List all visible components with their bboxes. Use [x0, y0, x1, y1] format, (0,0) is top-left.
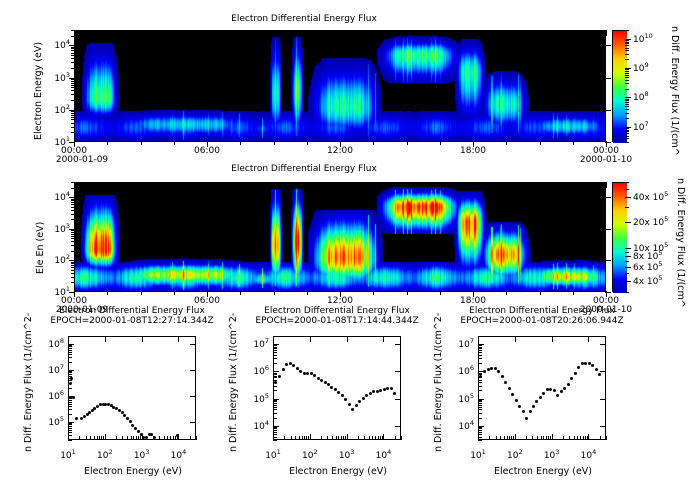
spec-ytick-minor [71, 238, 75, 239]
spec-xtick-minor [440, 141, 441, 145]
spec-ytick-minor [71, 273, 75, 274]
spectrum-ytick-minor [478, 363, 482, 364]
spectrum-ytick-text-exponent: 6 [60, 389, 64, 397]
spectrogram-top-frame [74, 30, 606, 142]
spectrum-xtick-minor [336, 436, 337, 440]
spectrum-ylabel-group: n Diff. Energy Flux (1/(cm^2- [217, 314, 231, 454]
spectrum-xtick-minor [79, 436, 80, 440]
spectrum-xtick-minor [378, 436, 379, 440]
colorbar-tick-minor [625, 48, 629, 49]
spectrogram-mid-title: Electron Differential Energy Flux [0, 164, 608, 174]
spectrum-xtick-minor [94, 436, 95, 440]
colorbar-tick-text: 1010 [633, 35, 653, 45]
colorbar-tick-minor [625, 59, 629, 60]
spectrum-data-point [70, 377, 73, 380]
spectrum-xtick-minor [332, 436, 333, 440]
spec-xtick-label: 12:00 [318, 146, 362, 156]
spectrum-ytick-text: 105 [458, 395, 474, 405]
spectrum-xtick-top [310, 336, 311, 342]
spectrum-xtick-minor [338, 436, 339, 440]
spectrum-xtick-minor [541, 436, 542, 440]
spectrum-ytick-text-exponent: 6 [265, 364, 269, 372]
spectrum-ylabel: n Diff. Energy Flux (1/(cm^2- [433, 313, 444, 452]
colorbar-tick-minor [625, 292, 629, 293]
spectrum-xtick-minor [577, 436, 578, 440]
spectrum-xtick-text: 101 [60, 451, 76, 461]
spec-ytick-minor [71, 207, 75, 208]
spec-xtick-minor [240, 291, 241, 295]
colorbar-tick-minor [625, 273, 629, 274]
spectrum-data-point [341, 394, 344, 397]
spectrum-xtick-top [515, 336, 516, 342]
spectrum-ytick-text: 105 [48, 418, 64, 428]
spectrum-xtick-minor [500, 436, 501, 440]
spectrum-ytick-minor [68, 424, 72, 425]
colorbar-tick-text: 4x 105 [633, 277, 663, 287]
colorbar-tick-minor [625, 99, 629, 100]
spectrum-ytick-text-exponent: 7 [265, 337, 269, 345]
spectrum-ytick-text-exponent: 7 [470, 337, 474, 345]
spectrum-ylabel: n Diff. Energy Flux (1/(cm^2- [228, 313, 239, 452]
spectrum-xtick-minor [308, 436, 309, 440]
spectrum-ytick-minor [68, 348, 72, 349]
colorbar-tick-text: 108 [633, 93, 649, 103]
spectrum-data-point [529, 410, 532, 413]
spectrum-ytick-minor [68, 423, 72, 424]
spectrum-xtick-minor [173, 436, 174, 440]
spec-ytick-minor [71, 119, 75, 120]
colorbar-tick-minor [625, 45, 629, 46]
spec-ytick-minor [71, 282, 75, 283]
colorbar-tick-minor [625, 138, 629, 139]
colorbar-tick-minor [625, 80, 629, 81]
spec-ytick-minor [71, 265, 75, 266]
spectrum-ytick-minor [68, 409, 72, 410]
spectrum-frame [273, 336, 401, 440]
spec-xtick-minor [141, 291, 142, 295]
spectrum-ytick-minor [478, 401, 482, 402]
spectrum-xtick [68, 434, 69, 440]
spectrum-ytick-minor [478, 348, 482, 349]
spectrum-xtick-minor [546, 436, 547, 440]
spectrum-data-point [324, 381, 327, 384]
spec-xtick-minor-top [440, 182, 441, 186]
spec-ytick-text: 103 [54, 225, 70, 235]
spectrum-xtick-minor [507, 436, 508, 440]
spectrum-xtick-top [347, 336, 348, 342]
spec-xtick-label: 06:00 [185, 146, 229, 156]
spec-ytick-minor [71, 53, 75, 54]
spectrum-xtick [347, 434, 348, 440]
spectrum-xtick-minor [295, 436, 296, 440]
spectrum-xtick-minor [496, 436, 497, 440]
spectrum-xtick-text: 104 [171, 451, 187, 461]
spec-ytick-minor [71, 123, 75, 124]
spectrum-xtick-minor [321, 436, 322, 440]
spectrum-ytick-minor [68, 357, 72, 358]
spectrum-xtick-top [552, 336, 553, 342]
spectrum-ytick-minor [478, 345, 482, 346]
spectrum-ytick-minor [273, 413, 277, 414]
spectrum-ytick-text: 105 [253, 395, 269, 405]
spec-ytick-label: 104 [40, 38, 70, 51]
spectrum-xtick-text-exponent: 1 [482, 448, 486, 456]
spectrum-xtick-minor [116, 436, 117, 440]
spectrum-ytick-text: 107 [48, 366, 64, 376]
spectrum-xtick-minor [569, 436, 570, 440]
spec-ytick-label: 103 [40, 71, 70, 84]
spec-ytick-minor [71, 232, 75, 233]
spectrum-ytick-minor [68, 388, 72, 389]
spectrum-ylabel-group: n Diff. Energy Flux (1/(cm^2- [12, 314, 26, 454]
spectrum-ytick-right [395, 399, 401, 400]
colorbar-tick-minor [625, 261, 629, 262]
colorbar-tick-minor [625, 40, 629, 41]
spectrum-xtick-minor [167, 436, 168, 440]
spec-xtick-minor [540, 141, 541, 145]
spectrum-xtick-minor [97, 436, 98, 440]
spectrum-ytick-minor [478, 355, 482, 356]
spec-ytick-text-exponent: 3 [66, 71, 70, 79]
spectrum-xtick-text: 102 [507, 451, 523, 461]
spectrum-ytick-minor [478, 352, 482, 353]
spec-ytick-major-right [605, 197, 611, 198]
spec-xtick-minor [373, 291, 374, 295]
spec-ytick-minor [71, 132, 75, 133]
spectrum-xtick-label: 101 [257, 448, 289, 461]
spectrum-ytick-text: 107 [253, 340, 269, 350]
spec-xtick-minor-top [107, 182, 108, 186]
spec-ytick-minor [71, 100, 75, 101]
spectrum-ytick-minor [273, 386, 277, 387]
colorbar-tick-minor [625, 42, 629, 43]
spectrum-ytick-minor [478, 376, 482, 377]
spec-xtick-minor [473, 141, 474, 145]
spec-xtick-minor-top [407, 182, 408, 186]
spectrum-xlabel: Electron Energy (eV) [38, 466, 228, 477]
spectrum-ytick-right [395, 344, 401, 345]
colorbar-tick-minor [625, 102, 629, 103]
spectrogram-top-title: Electron Differential Energy Flux [0, 14, 608, 24]
spectrum-xtick-minor [164, 436, 165, 440]
spectrum-xtick-minor [548, 436, 549, 440]
spec-ytick-text-exponent: 1 [66, 285, 70, 293]
spectrum-ytick-minor [478, 413, 482, 414]
spectrum-xtick-minor [103, 436, 104, 440]
spectrum-ytick-minor [478, 403, 482, 404]
spec-xtick-minor [107, 291, 108, 295]
colorbar-mid-label: n Diff. Energy Flux (1/(cm^ [675, 178, 686, 308]
spectrum-ytick-right [190, 370, 196, 371]
spectrum-data-point [153, 436, 156, 439]
spectrum-ytick-text: 107 [458, 340, 474, 350]
spectrum-data-point [390, 387, 393, 390]
spectrum-ytick-minor [478, 347, 482, 348]
spectrum-ytick-minor [68, 372, 72, 373]
colorbar-tick [625, 248, 631, 249]
spectrum-ytick-label: 105 [239, 392, 269, 405]
spec-ytick-label: 103 [40, 222, 70, 235]
spec-xtick-minor-top [506, 30, 507, 34]
spec-xtick-minor [606, 291, 607, 295]
spectrum-ytick-text-exponent: 4 [265, 419, 269, 427]
colorbar-tick-label: 1010 [633, 32, 653, 45]
spectrum-xtick-minor [196, 436, 197, 440]
spec-ytick-minor [71, 47, 75, 48]
spectrum-data-point [598, 373, 601, 376]
colorbar-tick-label: 4x 105 [633, 274, 663, 287]
spectrum-ytick-minor [478, 380, 482, 381]
spectrum-xtick-minor [395, 436, 396, 440]
spectrum-data-point [348, 403, 351, 406]
spectrum-ytick-label: 107 [239, 337, 269, 350]
spectrum-xtick-label: 103 [536, 448, 568, 461]
colorbar-tick-minor [625, 130, 629, 131]
spectrum-ytick-minor [478, 405, 482, 406]
spectrum-xtick-text-exponent: 4 [182, 448, 186, 456]
spectrum-ytick-text-exponent: 5 [470, 392, 474, 400]
spec-xtick-minor [307, 291, 308, 295]
spectrum-ytick-minor [68, 414, 72, 415]
spec-ytick-text-exponent: 2 [66, 253, 70, 261]
spec-xtick-minor [473, 291, 474, 295]
spectrum-xtick-text: 101 [470, 451, 486, 461]
spectrum-xtick [515, 434, 516, 440]
spec-ytick-minor [71, 251, 75, 252]
spectrum-xtick-minor [127, 436, 128, 440]
spectrum-ytick-minor [68, 400, 72, 401]
spectrum-data-point [282, 368, 285, 371]
colorbar-tick-text-exponent: 7 [644, 120, 648, 128]
spec-ytick-minor [71, 277, 75, 278]
spectrum-ytick-right [190, 422, 196, 423]
spectrum-xtick-minor [136, 436, 137, 440]
spectrum-ytick-right [600, 371, 606, 372]
spec-xtick-minor [573, 141, 574, 145]
spectrum-xtick-minor [327, 436, 328, 440]
spec-ytick-minor [71, 236, 75, 237]
colorbar-tick-minor [625, 89, 629, 90]
colorbar-top [612, 30, 626, 142]
spectrum-ytick-minor [68, 350, 72, 351]
spectrum-subtitle: EPOCH=2000-01-08T20:26:06.944Z [418, 316, 666, 326]
spec-xtick-minor-top [373, 182, 374, 186]
spec-ytick-minor [71, 241, 75, 242]
spectrum-ytick-text-exponent: 5 [60, 415, 64, 423]
spectrum-xtick-top [273, 336, 274, 342]
spectrum-ytick-minor [273, 409, 277, 410]
spec-xtick-minor [606, 141, 607, 145]
spectrum-xtick-label: 101 [462, 448, 494, 461]
spectrum-xtick-text: 104 [581, 451, 597, 461]
spectrum-ytick-minor [68, 371, 72, 372]
spectrum-ytick-minor [273, 347, 277, 348]
spec-xtick-minor-top [540, 30, 541, 34]
spectrum-xtick-minor [101, 436, 102, 440]
spectrum-xtick-minor [537, 436, 538, 440]
spec-xtick-minor [174, 291, 175, 295]
spec-xtick-minor [74, 291, 75, 295]
spec-ytick-minor [71, 210, 75, 211]
spec-xtick-minor-top [307, 182, 308, 186]
spectrum-title: Electron Differential Energy Flux [418, 306, 666, 316]
spectrum-xtick-minor [401, 436, 402, 440]
colorbar-tick-minor [625, 133, 629, 134]
spectrum-ytick-minor [68, 362, 72, 363]
colorbar-tick-minor [625, 197, 629, 198]
spectrogram-top-ylabel: Electron Energy (eV) [33, 42, 44, 140]
spectrum-xtick-label: 104 [162, 448, 194, 461]
spectrum-xtick-minor [343, 436, 344, 440]
spectrum-xtick-minor [583, 436, 584, 440]
spec-ytick-text: 104 [54, 41, 70, 51]
spec-xtick-minor [174, 141, 175, 145]
colorbar-tick-minor [625, 267, 629, 268]
spec-ytick-minor [71, 55, 75, 56]
spectrum-xtick-minor [131, 436, 132, 440]
colorbar-tick-text: 40x 105 [633, 193, 668, 203]
spectrum-ytick-minor [273, 390, 277, 391]
spectrum-ytick-minor [68, 426, 72, 427]
spec-ytick-minor [71, 68, 75, 69]
spectrum-ytick-label: 106 [239, 364, 269, 377]
spec-ytick-text: 104 [54, 193, 70, 203]
spectrum-ytick-minor [478, 428, 482, 429]
spectrum-ytick-minor [478, 409, 482, 410]
spectrum-ylabel: n Diff. Energy Flux (1/(cm^2- [23, 313, 34, 452]
colorbar-tick-text-exponent: 5 [664, 241, 668, 249]
colorbar-tick-minor [625, 113, 629, 114]
spectrum-ytick-minor [68, 398, 72, 399]
spectrum-xtick-minor [543, 436, 544, 440]
spec-xtick-minor-top [573, 30, 574, 34]
spectrum-ytick-minor [68, 404, 72, 405]
colorbar-tick-text: 20x 105 [633, 218, 668, 228]
spec-ytick-minor [71, 58, 75, 59]
colorbar-tick-minor [625, 104, 629, 105]
spectrum-xtick-label: 102 [294, 448, 326, 461]
spectrum-data-point [487, 368, 490, 371]
spectrum-ytick-label: 106 [34, 389, 64, 402]
spec-ytick-minor [71, 199, 75, 200]
spectrum-xtick-minor [138, 436, 139, 440]
colorbar-tick-text: 6x 105 [633, 263, 663, 273]
spec-ytick-minor [71, 81, 75, 82]
spec-ytick-major-right [605, 260, 611, 261]
colorbar-tick-minor [625, 100, 629, 101]
colorbar-tick-text-exponent: 5 [664, 190, 668, 198]
spectrum-xlabel: Electron Energy (eV) [243, 466, 433, 477]
spectrum-ytick-minor [68, 406, 72, 407]
spectrum-ytick-label: 107 [34, 363, 64, 376]
spectrum-ytick-minor [273, 432, 277, 433]
spectrum-ytick-text-exponent: 5 [265, 392, 269, 400]
spectrum-xtick-minor [382, 436, 383, 440]
colorbar-tick-text-exponent: 5 [658, 249, 662, 257]
spectrum-ytick-minor [273, 400, 277, 401]
spectrum-xtick-label: 104 [367, 448, 399, 461]
spectrum-xtick-minor [159, 436, 160, 440]
spectrum-xtick [105, 434, 106, 440]
spectrum-xtick-minor [380, 436, 381, 440]
spectrum-xtick-minor [284, 436, 285, 440]
spectrum-xtick-label: 102 [89, 448, 121, 461]
colorbar-tick-minor [625, 77, 629, 78]
spectrum-xtick-text: 103 [134, 451, 150, 461]
spectrum-xtick-text-exponent: 3 [145, 448, 149, 456]
spec-ytick-minor [71, 267, 75, 268]
colorbar-tick-text-exponent: 9 [644, 61, 648, 69]
spectrum-xtick-minor [306, 436, 307, 440]
spectrum-xtick-minor [574, 436, 575, 440]
spec-xtick-minor [274, 291, 275, 295]
spectrum-xtick-minor [600, 436, 601, 440]
spec-xtick-minor-top [307, 30, 308, 34]
spectrum-xtick-minor [133, 436, 134, 440]
spec-xtick-minor-top [473, 182, 474, 186]
spectrum-xtick [383, 434, 384, 440]
colorbar-tick-text-exponent: 5 [664, 215, 668, 223]
spec-xtick-minor-top [240, 182, 241, 186]
colorbar-tick-minor [625, 131, 629, 132]
spectrum-xtick-minor [375, 436, 376, 440]
spec-xtick-minor [506, 141, 507, 145]
colorbar-tick-minor [625, 50, 629, 51]
spec-xtick-minor [340, 141, 341, 145]
spec-ytick-major-right [605, 110, 611, 111]
colorbar-tick-label: 6x 105 [633, 260, 663, 273]
spectrum-ytick-minor [478, 430, 482, 431]
spectrum-ytick-minor [478, 418, 482, 419]
spectrum-ytick-minor [68, 428, 72, 429]
spectrum-xlabel: Electron Energy (eV) [448, 466, 638, 477]
spectrum-xtick-minor [358, 436, 359, 440]
spectrum-xtick-minor [489, 436, 490, 440]
spectrum-xtick-text-exponent: 3 [555, 448, 559, 456]
spectrum-xtick-text: 103 [339, 451, 355, 461]
spectrum-ytick-minor [273, 405, 277, 406]
colorbar-tick-minor [625, 30, 629, 31]
spectrum-xtick-text: 103 [544, 451, 560, 461]
spectrum-xtick-minor [585, 436, 586, 440]
spectrum-xtick-minor [532, 436, 533, 440]
spec-ytick-minor [71, 85, 75, 86]
spec-ytick-minor [71, 83, 75, 84]
spectrum-ytick-minor [478, 358, 482, 359]
spec-xtick-minor-top [141, 30, 142, 34]
spec-ytick-minor [71, 200, 75, 201]
spectrum-xtick-label: 101 [52, 448, 84, 461]
spectrum-ytick-label: 104 [444, 419, 474, 432]
spec-xtick-minor [340, 291, 341, 295]
spectrum-data-point [365, 394, 368, 397]
spectrum-xtick-minor [369, 436, 370, 440]
spec-ytick-text-exponent: 4 [66, 38, 70, 46]
spec-ytick-major-right [605, 229, 611, 230]
spec-xtick-minor-top [340, 182, 341, 186]
spectrum-xtick-minor [372, 436, 373, 440]
spectrum-ytick-right [600, 399, 606, 400]
spectrum-data-point [522, 410, 525, 413]
spec-xtick-minor-top [573, 182, 574, 186]
spec-xtick-minor-top [74, 30, 75, 34]
spectrum-ytick-right [395, 371, 401, 372]
spectrum-data-point [278, 375, 281, 378]
spec-ytick-minor [71, 94, 75, 95]
spec-ytick-text: 102 [54, 256, 70, 266]
spectrum-ytick-label: 108 [34, 337, 64, 350]
spec-ytick-minor [71, 270, 75, 271]
